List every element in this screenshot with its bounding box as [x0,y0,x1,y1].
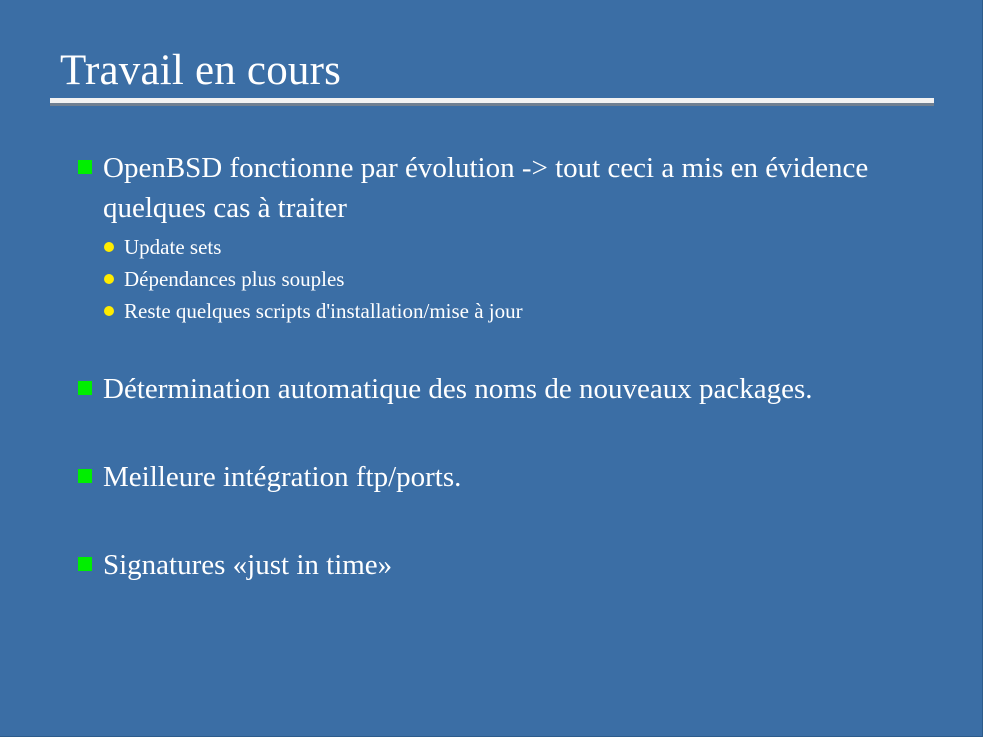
sub-bullet-label: Dépendances plus souples [124,267,344,291]
green-square-bullet-icon [78,381,92,395]
presentation-slide: Travail en cours OpenBSD fonctionne par … [0,0,983,737]
green-square-bullet-icon [78,557,92,571]
sub-bullet-label: Reste quelques scripts d'installation/mi… [124,299,523,323]
sub-bullet-item: Update sets [102,231,934,263]
bullet-item: Signatures «just in time» [74,545,893,585]
spacer [74,497,934,545]
spacer [74,409,934,457]
bullet-label: Signatures «just in time» [103,549,392,581]
bullet-label: Meilleure intégration ftp/ports. [103,461,461,493]
title-underline-rule [50,98,934,106]
sub-bullet-list: Update sets Dépendances plus souples Res… [74,231,934,327]
bullet-label: OpenBSD fonctionne par évolution -> tout… [103,152,868,224]
yellow-dot-bullet-icon [104,274,114,284]
bullet-label: Détermination automatique des noms de no… [103,373,812,405]
green-square-bullet-icon [78,160,92,174]
yellow-dot-bullet-icon [104,242,114,252]
slide-body: OpenBSD fonctionne par évolution -> tout… [74,148,934,585]
bullet-item: Meilleure intégration ftp/ports. [74,457,893,497]
slide-title-block: Travail en cours [50,46,934,106]
spacer [74,327,934,369]
sub-bullet-item: Dépendances plus souples [102,263,934,295]
sub-bullet-label: Update sets [124,235,221,259]
bullet-item: Détermination automatique des noms de no… [74,369,893,409]
sub-bullet-item: Reste quelques scripts d'installation/mi… [102,295,934,327]
bullet-item: OpenBSD fonctionne par évolution -> tout… [74,148,893,228]
yellow-dot-bullet-icon [104,306,114,316]
green-square-bullet-icon [78,469,92,483]
page-title: Travail en cours [50,46,934,96]
